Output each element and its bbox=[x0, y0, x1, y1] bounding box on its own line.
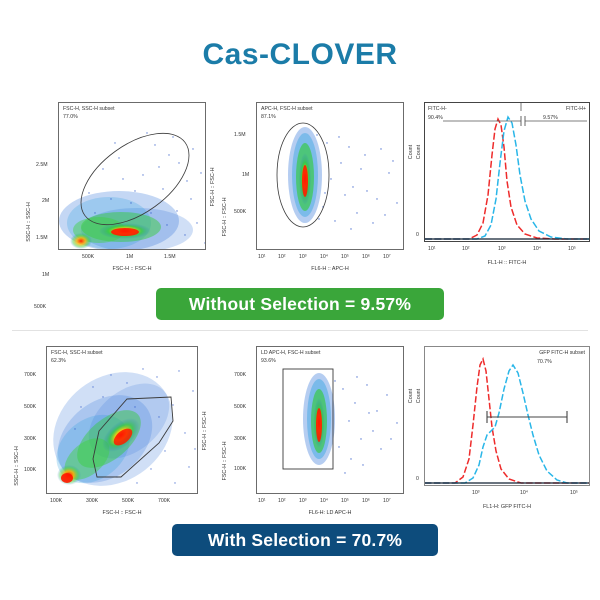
x-tick-1: 10² bbox=[278, 498, 286, 504]
x-tick-1: 10⁴ bbox=[520, 490, 528, 496]
banner-without-selection: Without Selection = 9.57% bbox=[156, 288, 444, 320]
plot-area: FSC-H, SSC-H subset 77.0% bbox=[58, 102, 206, 250]
region-pos-percent: 9.57% bbox=[543, 114, 558, 122]
x-tick-0: 10¹ bbox=[428, 246, 436, 252]
region-neg-label: FITC-H- bbox=[428, 105, 447, 113]
gate-percent: 93.6% bbox=[261, 357, 276, 365]
x-tick-0: 10¹ bbox=[258, 254, 266, 260]
axis-title-y: SSC-H :: SSC-H bbox=[14, 396, 20, 536]
region-pos-percent: 70.7% bbox=[537, 358, 552, 366]
x-tick-6: 10⁷ bbox=[383, 254, 391, 260]
y-tick-0: 500K bbox=[234, 209, 246, 215]
axis-title-x: FL1-H: GFP FITC-H bbox=[424, 504, 590, 510]
gate-label: LD APC-H, FSC-H subset bbox=[261, 349, 320, 357]
y-tick-1: 300K bbox=[24, 436, 36, 442]
x-tick-3: 10⁴ bbox=[320, 498, 328, 504]
y-tick-1: 1M bbox=[242, 172, 249, 178]
region-pos-label: FITC-H+ bbox=[566, 105, 586, 113]
flow-cytometry-figure: Cas-CLOVER SSC-H :: SSC-H 500K 1M 1.5M 2… bbox=[0, 0, 600, 600]
y-tick-1: 1M bbox=[42, 272, 49, 278]
x-tick-1: 10² bbox=[278, 254, 286, 260]
x-tick-2: 10³ bbox=[299, 498, 307, 504]
panel-bot-gfp-hist: 0 GFP FITC-H subset 70.7% 10³ 10⁴ 10⁵ FL… bbox=[410, 336, 596, 521]
x-tick-0: 100K bbox=[50, 498, 62, 504]
axis-side-title: FSC-H :: FSC-H bbox=[202, 376, 208, 486]
panel-top-fsc-ssc: SSC-H :: SSC-H 500K 1M 1.5M 2M 2.5M bbox=[20, 92, 210, 277]
plot-area: FITC-H- 90.4% FITC-H+ 9.57% bbox=[424, 102, 590, 242]
axis-title-x: FSC-H :: FSC-H bbox=[46, 510, 198, 516]
axis-side-title: FSC-H :: FSC-H bbox=[210, 132, 216, 242]
axis-title-y: Count bbox=[416, 112, 422, 192]
gate-percent: 87.1% bbox=[261, 113, 276, 121]
x-tick-4: 10⁵ bbox=[341, 498, 349, 504]
x-tick-0: 10¹ bbox=[258, 498, 266, 504]
page-title: Cas-CLOVER bbox=[0, 38, 600, 72]
x-tick-5: 10⁶ bbox=[362, 498, 370, 504]
panel-bot-ldapc-fsc: FSC-H :: FSC-H 100K 300K 500K 700K bbox=[218, 336, 406, 521]
x-tick-0: 500K bbox=[82, 254, 94, 260]
axis-title-x: FL6-H: LD APC-H bbox=[256, 510, 404, 516]
x-tick-2: 1.5M bbox=[164, 254, 176, 260]
axis-title-x: FSC-H :: FSC-H bbox=[58, 266, 206, 272]
x-tick-3: 10⁴ bbox=[533, 246, 541, 252]
y-zero-tick: 0 bbox=[416, 232, 419, 238]
y-tick-1: 300K bbox=[234, 436, 246, 442]
axis-title-y: Count bbox=[416, 356, 422, 436]
x-tick-2: 10⁵ bbox=[570, 490, 578, 496]
x-tick-6: 10⁷ bbox=[383, 498, 391, 504]
x-tick-5: 10⁶ bbox=[362, 254, 370, 260]
x-tick-4: 10⁵ bbox=[341, 254, 349, 260]
x-tick-1: 300K bbox=[86, 498, 98, 504]
y-tick-0: 100K bbox=[24, 467, 36, 473]
banner-with-selection: With Selection = 70.7% bbox=[172, 524, 438, 556]
panel-top-apc-fsc: FSC-H :: FSC-H 500K 1M 1.5M bbox=[218, 92, 406, 277]
x-tick-2: 10³ bbox=[498, 246, 506, 252]
plot-area: FSC-H, SSC-H subset 62.3% bbox=[46, 346, 198, 494]
x-tick-2: 500K bbox=[122, 498, 134, 504]
x-tick-1: 10² bbox=[462, 246, 470, 252]
axis-title-x: FL6-H :: APC-H bbox=[256, 266, 404, 272]
scatter-cloud bbox=[257, 103, 404, 250]
axis-title-x: FL1-H :: FITC-H bbox=[424, 260, 590, 266]
gate-label: APC-H, FSC-H subset bbox=[261, 105, 313, 113]
gate-label: FSC-H, SSC-H subset bbox=[63, 105, 115, 113]
y-tick-0: 500K bbox=[34, 304, 46, 310]
divider bbox=[12, 330, 588, 331]
y-tick-3: 700K bbox=[234, 372, 246, 378]
plot-area: LD APC-H, FSC-H subset 93.6% bbox=[256, 346, 404, 494]
scatter-cloud bbox=[257, 347, 404, 494]
y-tick-3: 700K bbox=[24, 372, 36, 378]
y-tick-2: 1.5M bbox=[36, 235, 48, 241]
x-tick-1: 1M bbox=[126, 254, 133, 260]
y-tick-2: 500K bbox=[234, 404, 246, 410]
x-tick-2: 10³ bbox=[299, 254, 307, 260]
plot-area: APC-H, FSC-H subset 87.1% bbox=[256, 102, 404, 250]
y-tick-2: 500K bbox=[24, 404, 36, 410]
scatter-cloud bbox=[47, 347, 198, 494]
axis-title-y: SSC-H :: SSC-H bbox=[26, 152, 32, 292]
panel-bot-fsc-ssc: SSC-H :: SSC-H 100K 300K 500K 700K bbox=[12, 336, 212, 521]
gate-percent: 62.3% bbox=[51, 357, 66, 365]
region-neg-percent: 90.4% bbox=[428, 114, 443, 122]
histogram-curves bbox=[425, 103, 590, 242]
y-tick-4: 2.5M bbox=[36, 162, 48, 168]
gate-label: FSC-H, SSC-H subset bbox=[51, 349, 103, 357]
y-tick-2: 1.5M bbox=[234, 132, 246, 138]
plot-area: GFP FITC-H subset 70.7% bbox=[424, 346, 590, 486]
histogram-curves bbox=[425, 347, 590, 486]
axis-title-y: FSC-H :: FSC-H bbox=[222, 396, 228, 526]
x-tick-3: 700K bbox=[158, 498, 170, 504]
x-tick-0: 10³ bbox=[472, 490, 480, 496]
region-pos-label: GFP FITC-H subset bbox=[539, 349, 585, 357]
y-tick-0: 100K bbox=[234, 466, 246, 472]
axis-title-y: FSC-H :: FSC-H bbox=[222, 152, 228, 282]
x-tick-4: 10⁵ bbox=[568, 246, 576, 252]
panel-top-fitc-hist: 0 FITC-H- 90.4% FITC-H+ 9.57% 10¹ bbox=[410, 92, 596, 277]
gate-percent: 77.0% bbox=[63, 113, 78, 121]
scatter-cloud bbox=[59, 103, 206, 250]
y-tick-3: 2M bbox=[42, 198, 49, 204]
y-zero-tick: 0 bbox=[416, 476, 419, 482]
x-tick-3: 10⁴ bbox=[320, 254, 328, 260]
